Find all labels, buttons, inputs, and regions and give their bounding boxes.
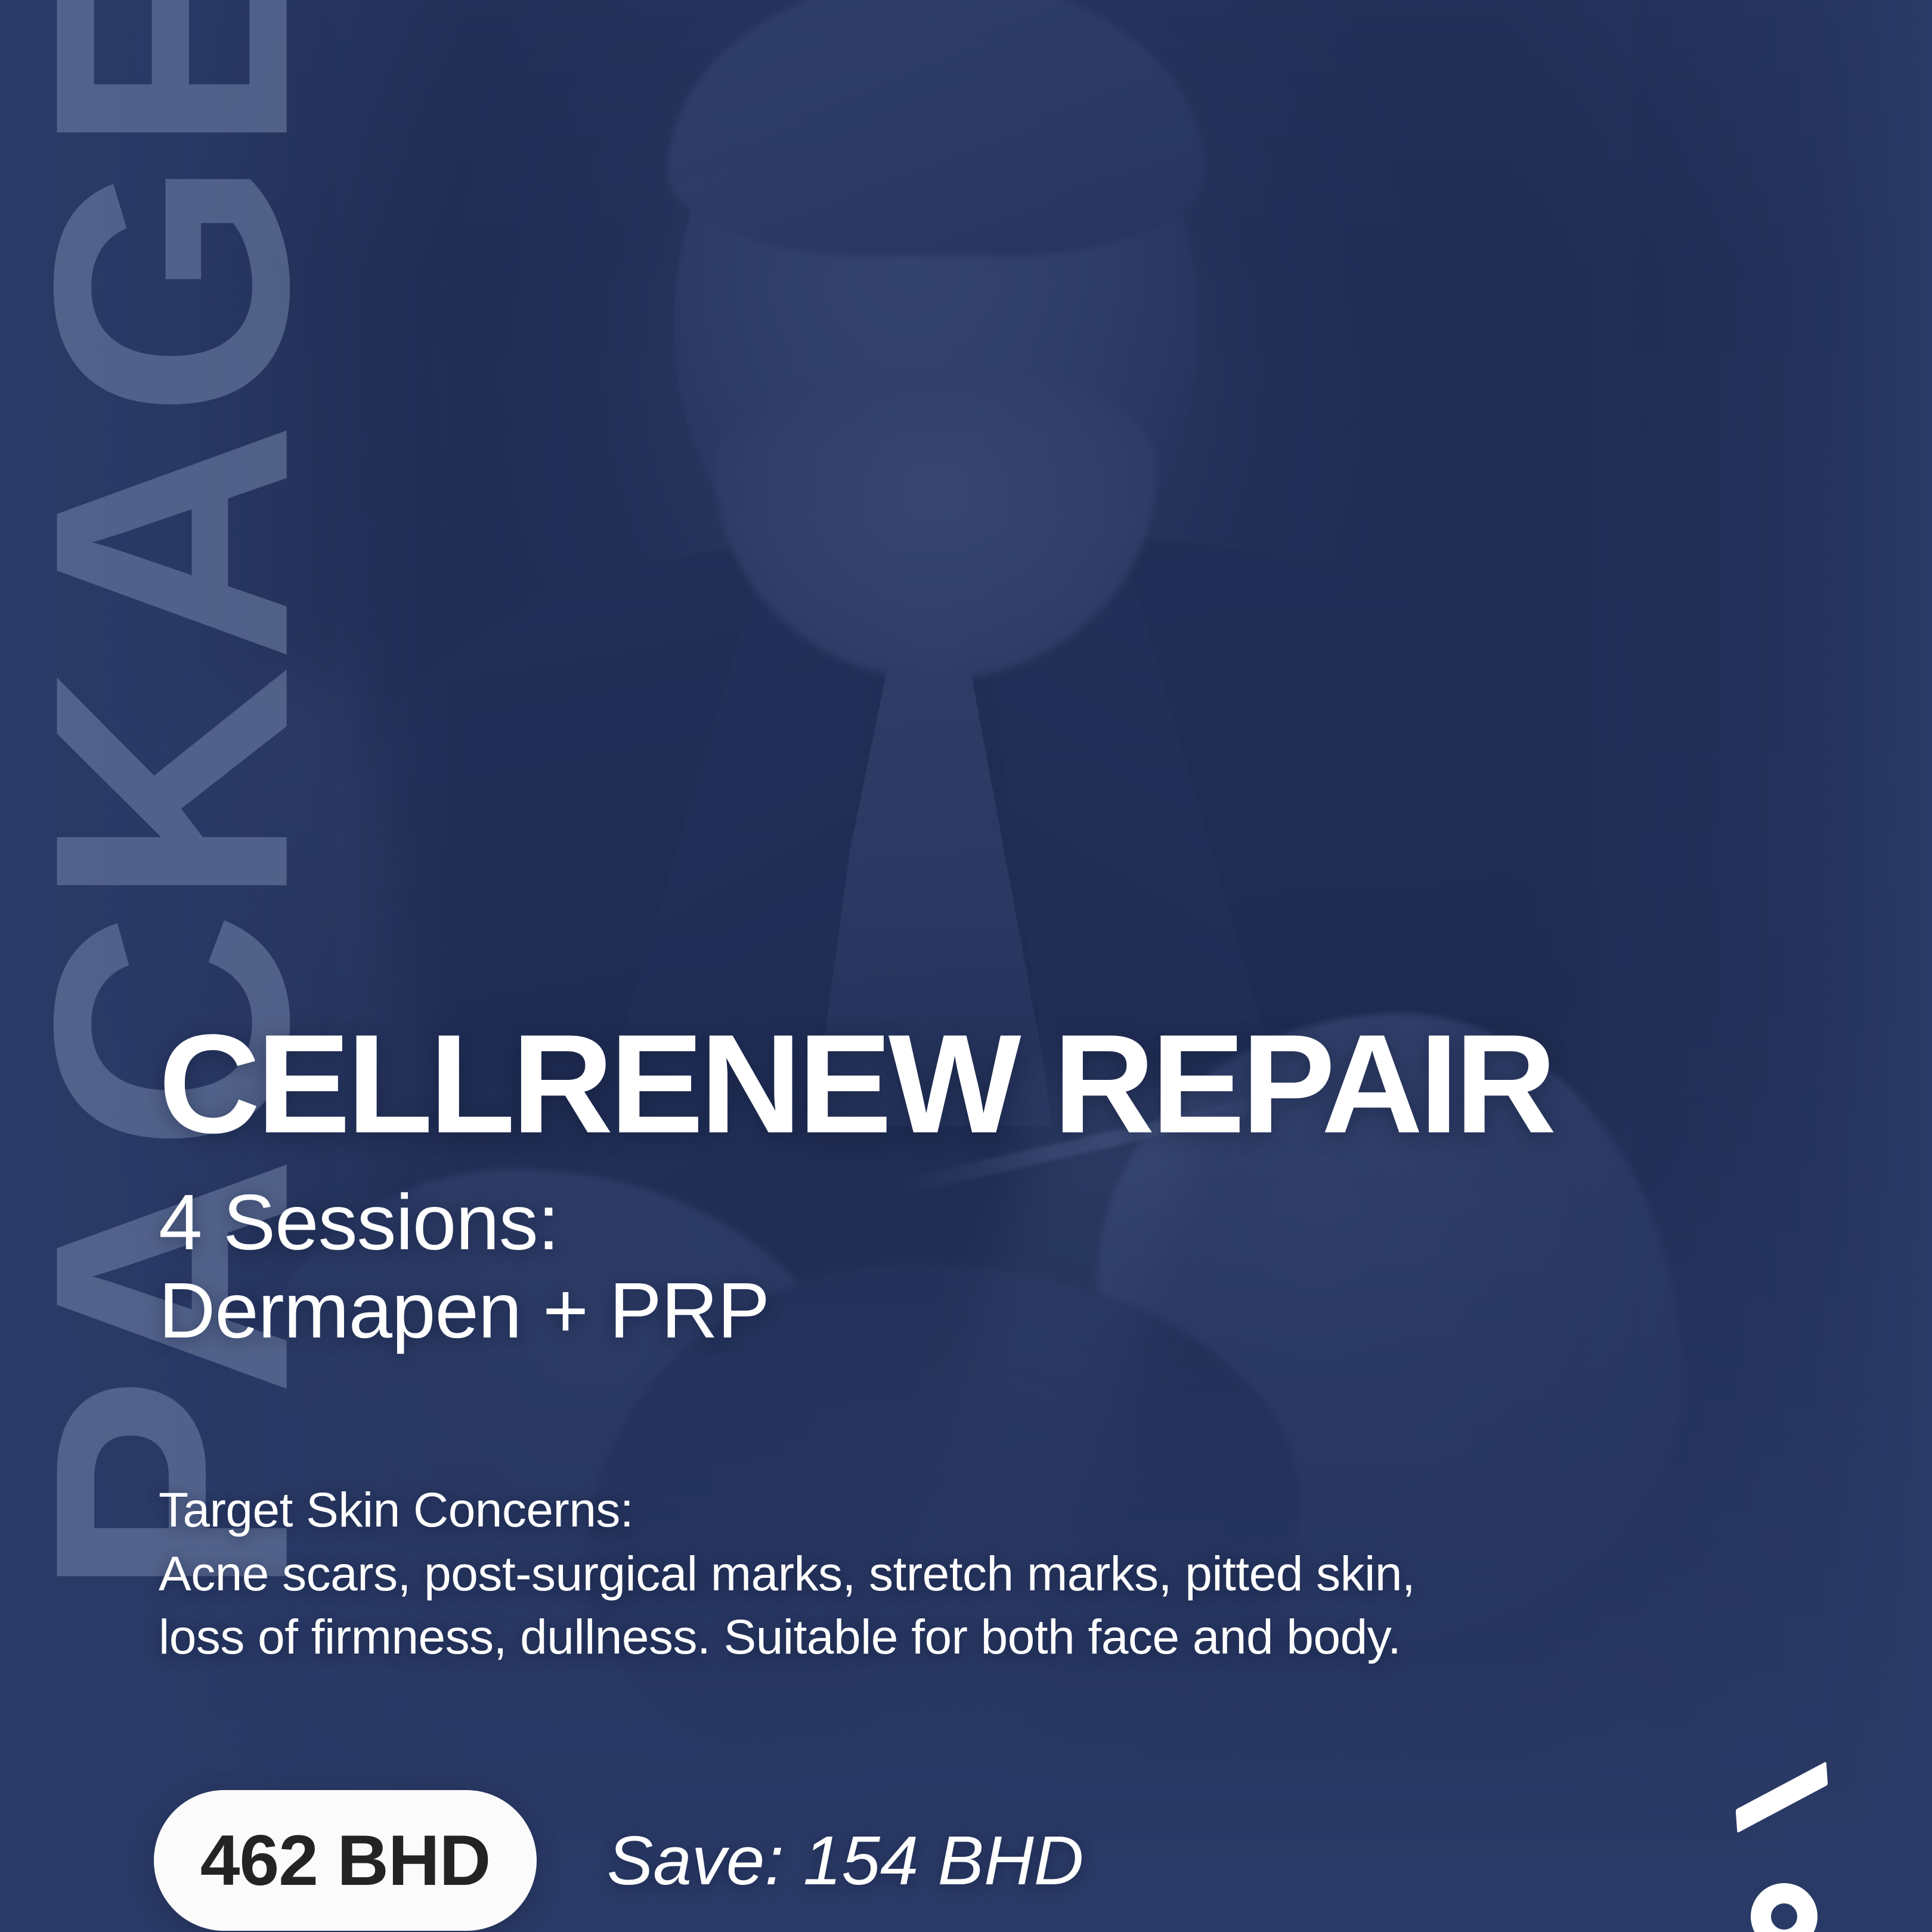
concerns-label: Target Skin Concerns: <box>159 1479 1453 1543</box>
package-promo-poster: PACKAGE CELLRENEW REPAIR 4 Sessions: Der… <box>0 0 1932 1932</box>
concerns-body: Acne scars, post-surgical marks, stretch… <box>159 1543 1453 1670</box>
treatment-line: Dermapen + PRP <box>159 1267 1351 1355</box>
ring-icon <box>1751 1883 1818 1932</box>
poster-content: CELLRENEW REPAIR 4 Sessions: Dermapen + … <box>0 0 1932 1932</box>
target-skin-concerns: Target Skin Concerns: Acne scars, post-s… <box>159 1479 1453 1670</box>
slash-icon <box>1736 1761 1828 1833</box>
price-value: 462 BHD <box>200 1825 491 1896</box>
price-badge[interactable]: 462 BHD <box>154 1790 537 1931</box>
page-title: CELLRENEW REPAIR <box>159 1014 1553 1154</box>
pricing-row: 462 BHD Save: 154 BHD <box>154 1790 1084 1931</box>
savings-label: Save: 154 BHD <box>607 1820 1084 1900</box>
offer-subtitle: 4 Sessions: Dermapen + PRP <box>159 1178 1351 1355</box>
sessions-line: 4 Sessions: <box>159 1178 559 1266</box>
brand-logo <box>1658 1682 1932 1932</box>
